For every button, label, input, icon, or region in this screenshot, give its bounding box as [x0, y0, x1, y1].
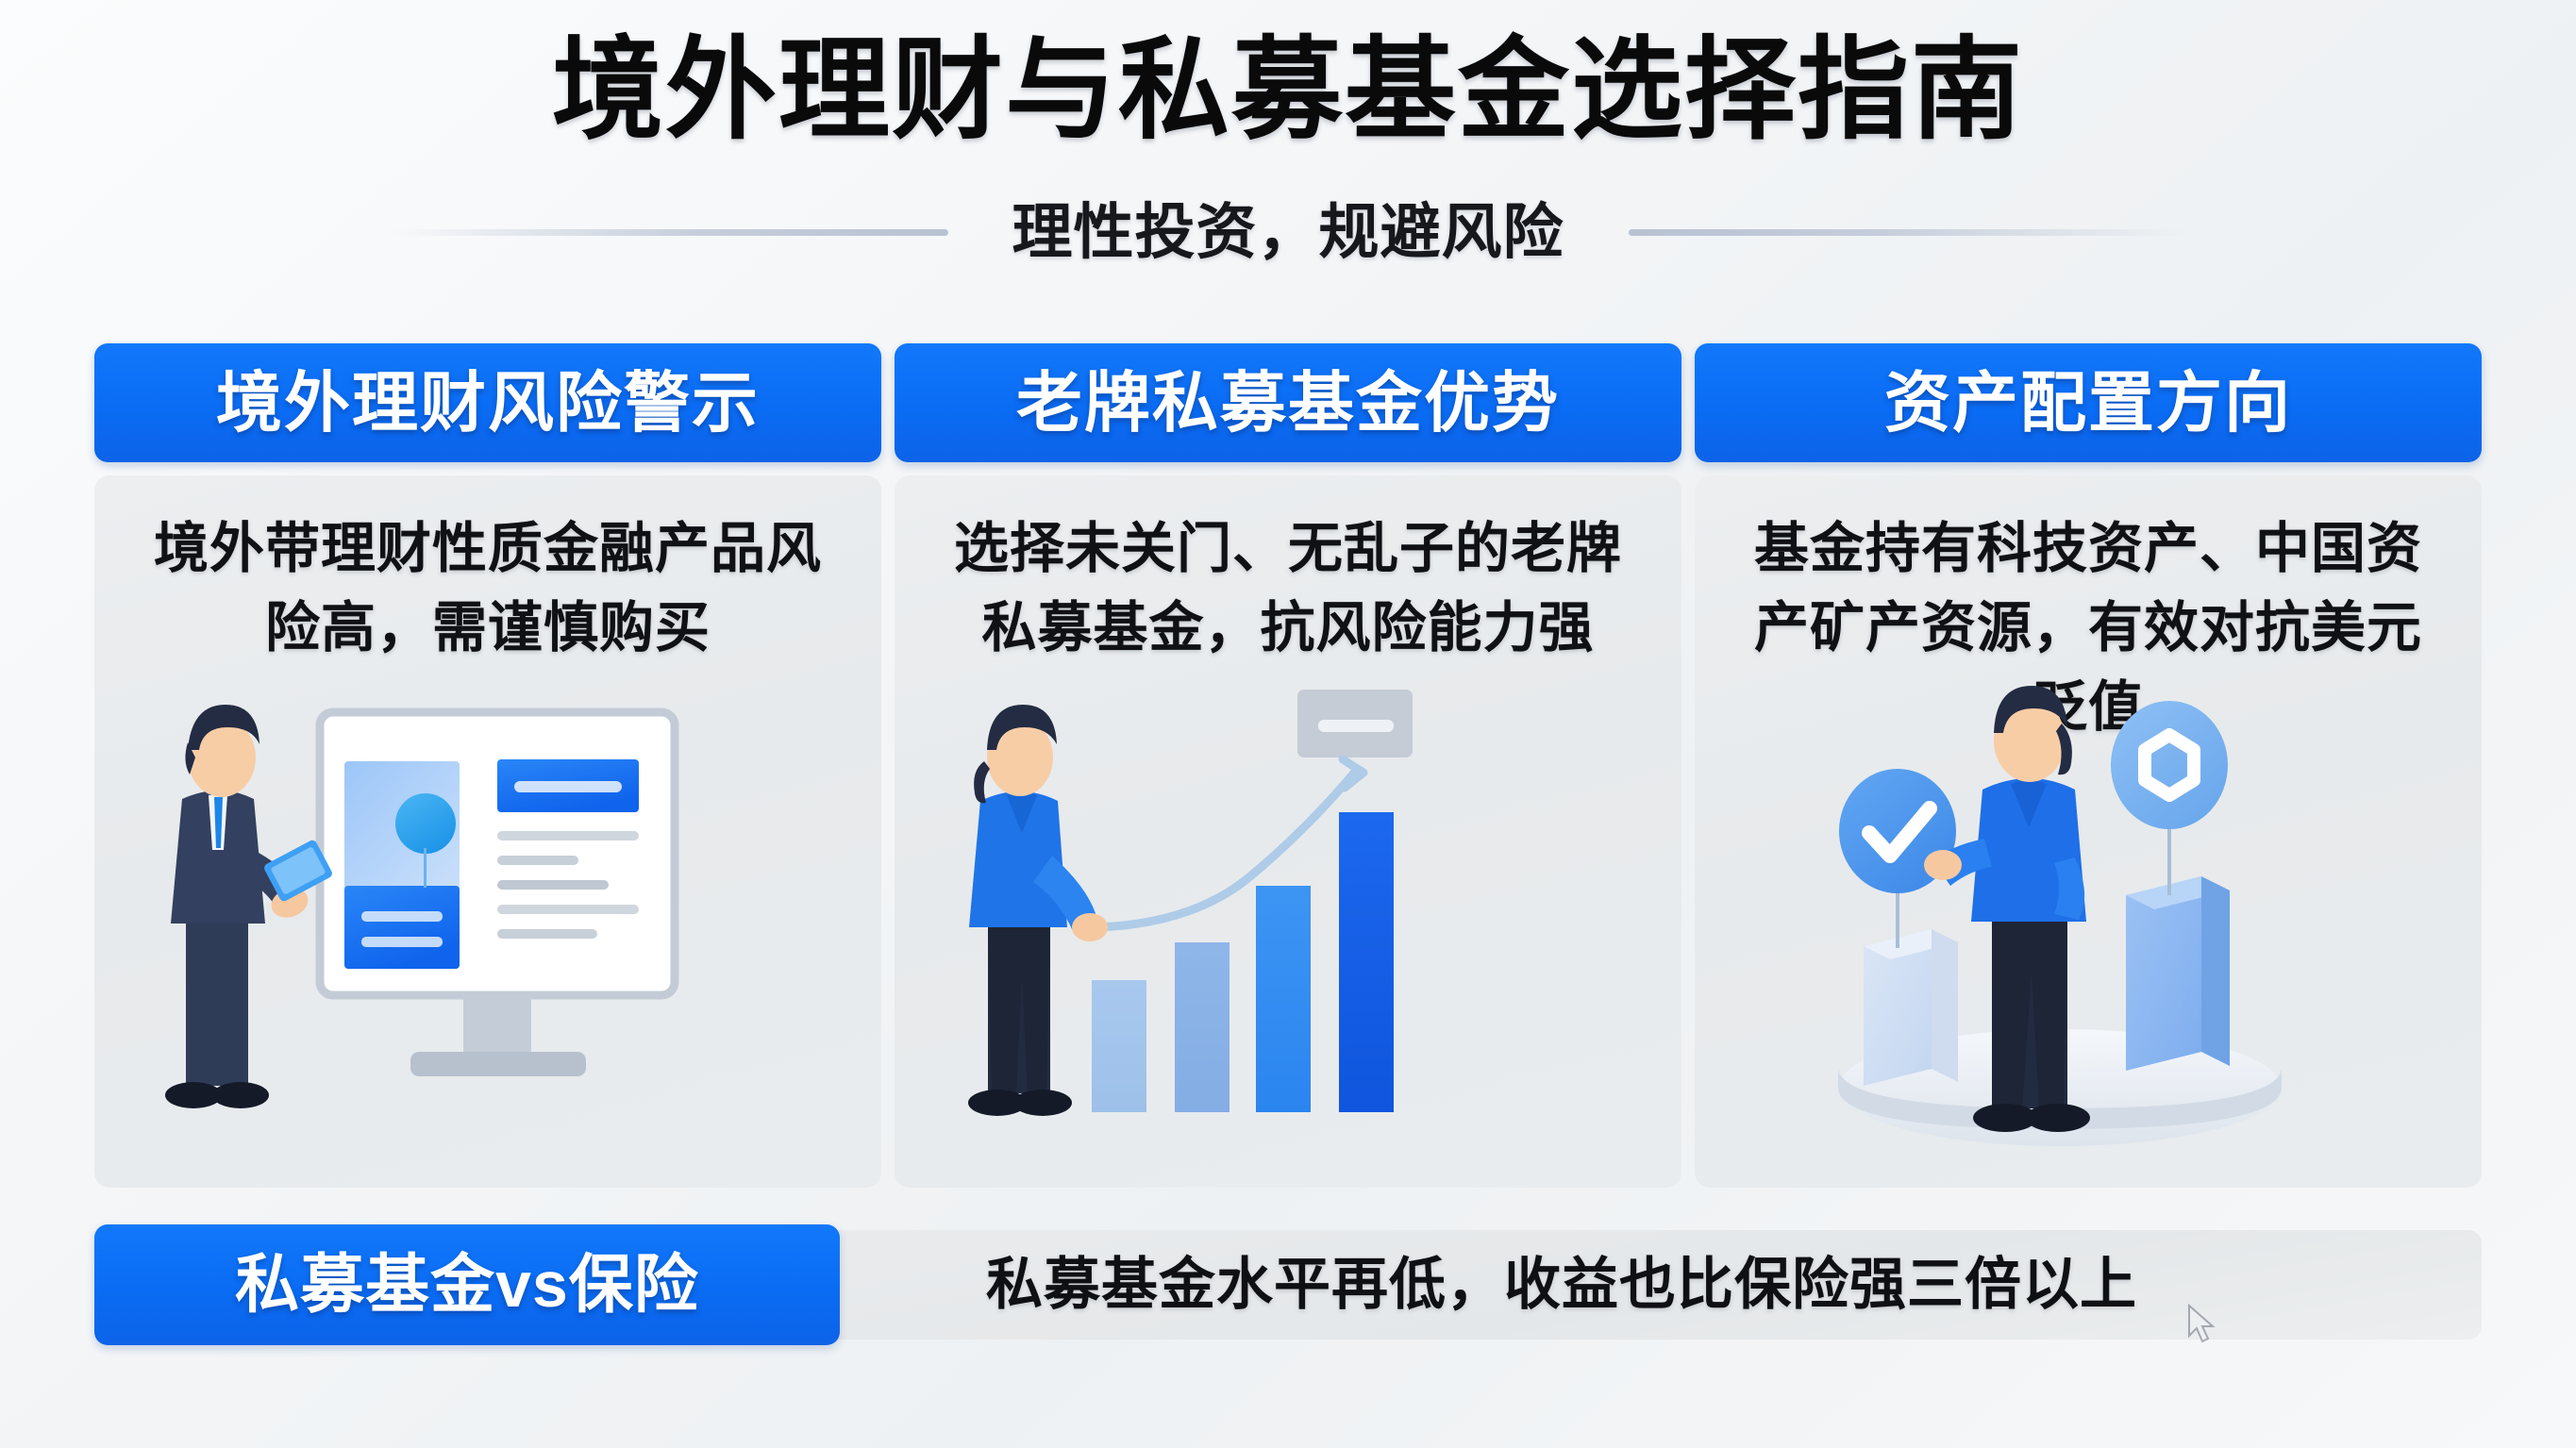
card-body-text: 选择未关门、无乱子的老牌私募基金，抗风险能力强 — [932, 509, 1644, 668]
card-header-3: 资产配置方向 — [1695, 343, 2482, 462]
page-title: 境外理财与私募基金选择指南 — [0, 25, 2576, 157]
card-fund-advantage[interactable]: 老牌私募基金优势 选择未关门、无乱子的老牌私募基金，抗风险能力强 — [895, 343, 1681, 1188]
card-row: 境外理财风险警示 境外带理财性质金融产品风险高，需谨慎购买 — [94, 343, 2482, 1188]
card-header-2: 老牌私募基金优势 — [895, 343, 1681, 462]
subtitle-rule-left-icon — [392, 229, 948, 236]
banner-label-text: 私募基金vs保险 — [235, 1245, 699, 1324]
bottom-banner: 私募基金水平再低，收益也比保险强三倍以上 私募基金vs保险 — [94, 1224, 2482, 1345]
poster-header: 境外理财与私募基金选择指南 理性投资，规避风险 — [0, 0, 2576, 311]
card-body-2: 选择未关门、无乱子的老牌私募基金，抗风险能力强 — [895, 475, 1681, 1188]
card-body-text: 境外带理财性质金融产品风险高，需谨慎购买 — [132, 509, 844, 668]
card-header-1: 境外理财风险警示 — [94, 343, 881, 462]
infographic-poster: 境外理财与私募基金选择指南 理性投资，规避风险 境外理财风险警示 境外带理财性质… — [0, 0, 2576, 1448]
illustration-svg-1 — [148, 680, 828, 1171]
card-heading-label: 老牌私募基金优势 — [1016, 363, 1560, 442]
subtitle-rule-right-icon — [1629, 229, 2185, 236]
person-podium-pillars-illustration — [1695, 680, 2482, 1171]
businessman-monitor-dashboard-illustration — [94, 680, 881, 1171]
card-body-1: 境外带理财性质金融产品风险高，需谨慎购买 — [94, 475, 881, 1188]
illustration-svg-2 — [948, 680, 1628, 1171]
illustration-svg-3 — [1748, 680, 2428, 1171]
page-subtitle: 理性投资，规避风险 — [1012, 193, 1564, 271]
card-heading-label: 资产配置方向 — [1884, 363, 2292, 442]
card-asset-allocation[interactable]: 资产配置方向 基金持有科技资产、中国资产矿产资源，有效对抗美元贬值 — [1695, 343, 2482, 1188]
subtitle-row: 理性投资，规避风险 — [0, 193, 2576, 271]
person-growth-bar-chart-illustration — [895, 680, 1681, 1171]
banner-statement-panel: 私募基金水平再低，收益也比保险强三倍以上 — [755, 1230, 2482, 1340]
banner-label-chip[interactable]: 私募基金vs保险 — [94, 1224, 840, 1345]
card-body-3: 基金持有科技资产、中国资产矿产资源，有效对抗美元贬值 — [1695, 475, 2482, 1188]
card-heading-label: 境外理财风险警示 — [216, 363, 760, 442]
banner-statement-text: 私募基金水平再低，收益也比保险强三倍以上 — [986, 1248, 2137, 1322]
card-overseas-risk[interactable]: 境外理财风险警示 境外带理财性质金融产品风险高，需谨慎购买 — [94, 343, 881, 1188]
